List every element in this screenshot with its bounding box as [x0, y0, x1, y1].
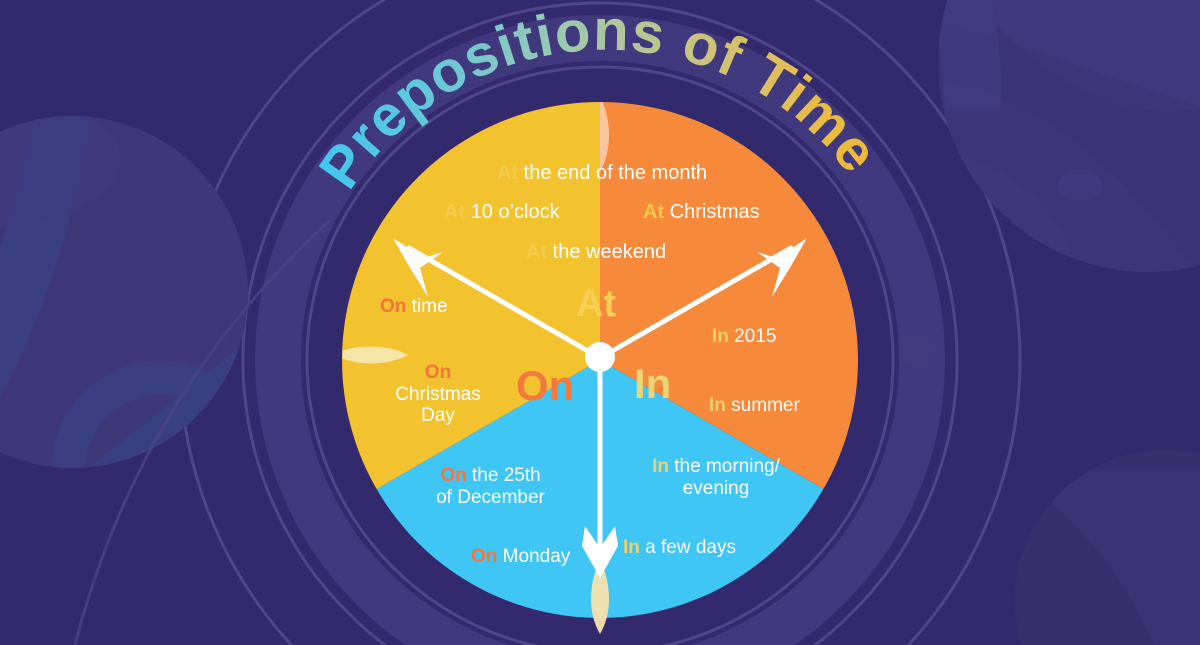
- moon-small-right: [901, 334, 935, 368]
- label-in-a-few-days: In a few days: [623, 537, 736, 559]
- label-rest: summer: [726, 395, 800, 416]
- label-prefix: In: [709, 395, 726, 416]
- label-prefix: On: [380, 296, 406, 317]
- label-in-morning-evening: In the morning/ evening: [642, 456, 790, 499]
- label-line-3: Day: [421, 405, 455, 426]
- label-rest: 10 o’clock: [465, 201, 560, 223]
- label-line-2: evening: [683, 478, 750, 499]
- label-rest: the weekend: [547, 241, 666, 263]
- infographic-canvas: Prepositions of Time At the end of the m…: [0, 0, 1200, 645]
- label-prefix: At: [497, 162, 518, 184]
- label-at-the-weekend: At the weekend: [526, 241, 666, 264]
- label-prefix: At: [526, 241, 547, 263]
- label-rest: Christmas: [664, 201, 760, 223]
- label-rest: the morning/: [669, 456, 780, 477]
- label-rest: Monday: [497, 546, 570, 567]
- label-prefix: In: [712, 326, 729, 347]
- segment-title-at: At: [576, 283, 616, 326]
- segment-title-in: In: [634, 360, 671, 408]
- label-in-2015: In 2015: [712, 326, 776, 348]
- label-on-time: On time: [380, 296, 448, 318]
- label-prefix: On: [425, 362, 451, 383]
- label-prefix: In: [652, 456, 669, 477]
- label-prefix: On: [440, 465, 466, 486]
- orbit-halo-thick: [278, 38, 922, 645]
- label-at-end-of-month: At the end of the month: [497, 162, 707, 185]
- label-in-summer: In summer: [709, 395, 800, 417]
- label-at-10-oclock: At 10 o’clock: [444, 201, 560, 224]
- label-prefix: On: [471, 546, 497, 567]
- label-prefix: At: [444, 201, 465, 223]
- label-prefix: At: [643, 201, 664, 223]
- label-rest: the end of the month: [518, 162, 707, 184]
- planet-bottom-right: [1010, 450, 1200, 645]
- label-line-2: Christmas: [395, 384, 481, 405]
- label-on-25th-december: On the 25th of December: [418, 465, 563, 508]
- label-on-christmas-day: On Christmas Day: [368, 362, 508, 427]
- label-on-monday: On Monday: [471, 546, 570, 568]
- label-rest: 2015: [729, 326, 777, 347]
- segment-title-on: On: [516, 362, 574, 410]
- label-rest: the 25th: [467, 465, 541, 486]
- label-rest: a few days: [640, 537, 736, 558]
- label-prefix: In: [623, 537, 640, 558]
- label-at-christmas: At Christmas: [643, 201, 760, 224]
- label-rest: time: [406, 296, 447, 317]
- planet-top-right: [910, 0, 1200, 420]
- label-line-2: of December: [436, 487, 545, 508]
